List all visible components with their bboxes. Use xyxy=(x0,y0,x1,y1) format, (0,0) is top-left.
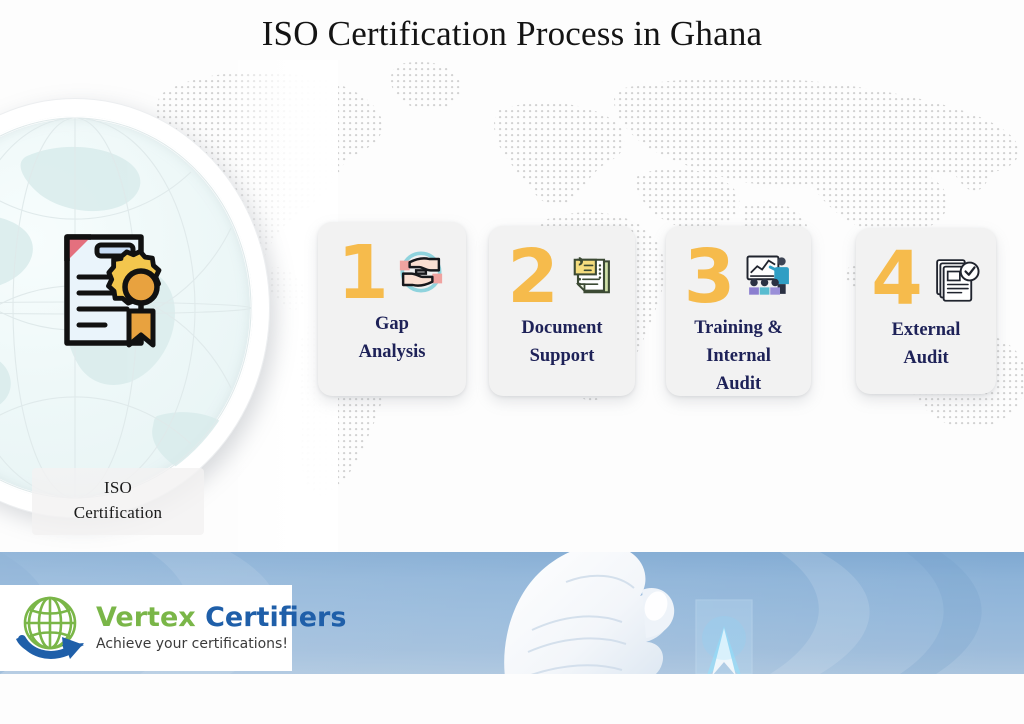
step-label-2-line2: Support xyxy=(495,342,629,370)
step-card-2-label: Document Support xyxy=(489,314,635,370)
step-card-2[interactable]: 2 Document xyxy=(489,226,635,396)
step-card-1-label: Gap Analysis xyxy=(318,310,466,366)
training-presentation-icon xyxy=(741,250,793,302)
certificate-with-seal-icon xyxy=(45,215,180,365)
step-card-4-header: 4 xyxy=(856,236,996,322)
infographic-poster: ISO Certification Process in Ghana xyxy=(0,0,1024,724)
step-card-3-header: 3 xyxy=(666,234,811,320)
step-label-3-line1: Training & xyxy=(672,314,805,342)
globe-arrow-icon xyxy=(14,593,92,663)
handshake-icon xyxy=(395,246,447,298)
brand-tagline: Achieve your certifications! xyxy=(96,636,346,652)
step-label-1-line1: Gap xyxy=(324,310,460,338)
step-card-1[interactable]: 1 Gap Analysis xyxy=(318,222,466,396)
step-number-1: 1 xyxy=(337,236,389,310)
brand-name-second: Certifiers xyxy=(205,602,346,633)
step-card-4-label: External Audit xyxy=(856,316,996,372)
brand-text: Vertex Certifiers Achieve your certifica… xyxy=(96,604,346,651)
brand-name: Vertex Certifiers xyxy=(96,604,346,632)
document-support-icon xyxy=(565,250,617,302)
brand-name-first: Vertex xyxy=(96,602,196,633)
step-label-2-line1: Document xyxy=(495,314,629,342)
step-card-4[interactable]: 4 External Audit xyxy=(856,228,996,394)
step-card-2-header: 2 xyxy=(489,234,635,320)
step-card-3-label: Training & Internal Audit xyxy=(666,314,811,398)
step-number-2: 2 xyxy=(507,240,559,314)
step-label-4-line1: External xyxy=(862,316,990,344)
badge-label: ISO Certification xyxy=(32,468,204,535)
step-card-1-header: 1 xyxy=(318,230,466,316)
step-card-3[interactable]: 3 xyxy=(666,226,811,396)
badge-label-line2: Certification xyxy=(38,501,198,526)
step-label-3-line2: Internal xyxy=(672,342,805,370)
badge-label-line1: ISO xyxy=(38,476,198,501)
documents-verified-icon xyxy=(929,252,981,304)
brand-logo[interactable]: Vertex Certifiers Achieve your certifica… xyxy=(0,585,292,671)
step-number-3: 3 xyxy=(684,240,736,314)
step-label-3-line3: Audit xyxy=(672,370,805,398)
step-label-1-line2: Analysis xyxy=(324,338,460,366)
step-label-4-line2: Audit xyxy=(862,344,990,372)
iso-certification-badge: ISO Certification xyxy=(0,98,270,518)
step-number-4: 4 xyxy=(871,242,923,316)
page-title: ISO Certification Process in Ghana xyxy=(0,14,1024,54)
glow-arrow-icon xyxy=(690,598,760,674)
